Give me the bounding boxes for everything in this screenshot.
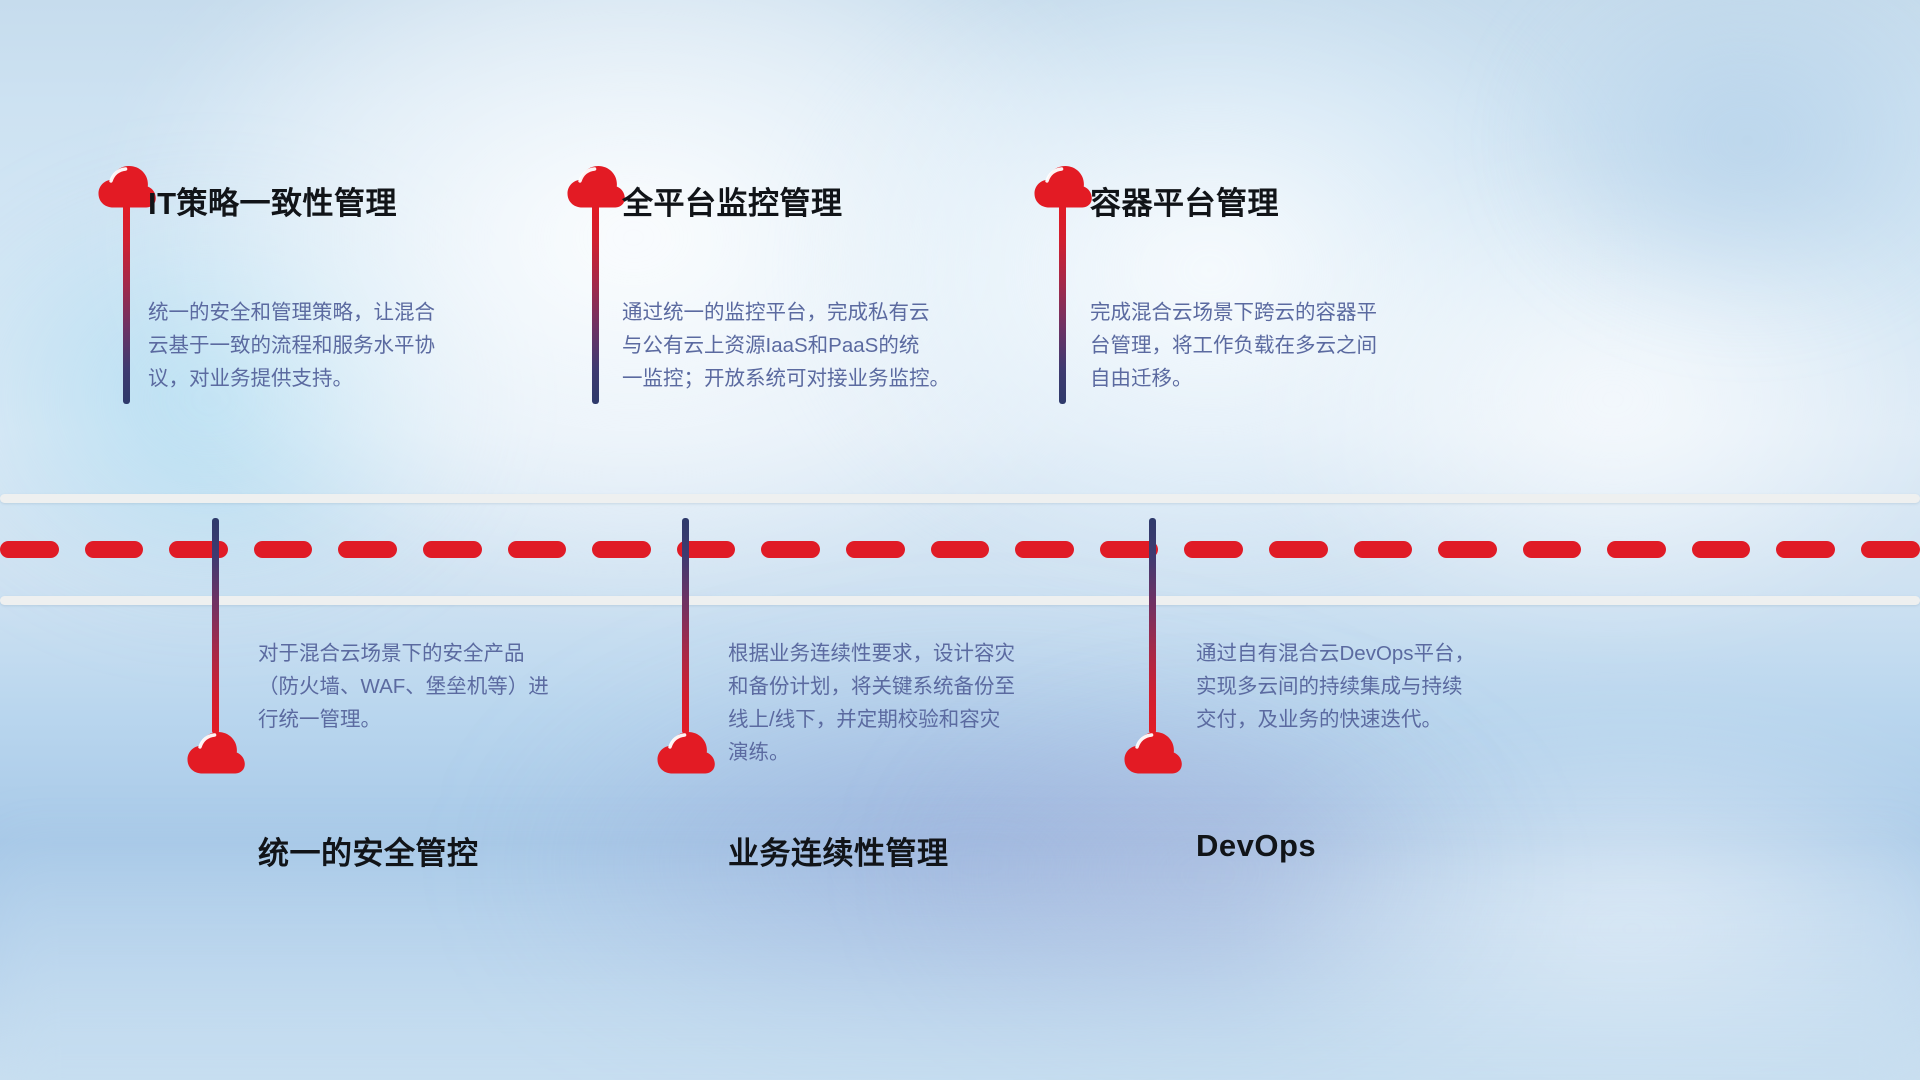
- road-dash-segment: [338, 541, 397, 558]
- card-description: 完成混合云场景下跨云的容器平 台管理，将工作负载在多云之间 自由迁移。: [1090, 296, 1460, 395]
- road-dash-segment: [931, 541, 990, 558]
- road-dash-segment: [1269, 541, 1328, 558]
- road-dash-segment: [1015, 541, 1074, 558]
- road-dash-segment: [1438, 541, 1497, 558]
- cloud-icon: [185, 730, 247, 776]
- card-title: DevOps: [1196, 828, 1316, 864]
- card-title: 容器平台管理: [1090, 178, 1279, 223]
- cloud-icon: [655, 730, 717, 776]
- cloud-icon: [1122, 730, 1184, 776]
- pin-stem: [682, 518, 689, 734]
- pin-stem: [1059, 204, 1066, 404]
- road-dash-segment: [1692, 541, 1751, 558]
- road-dash-segment: [0, 541, 59, 558]
- card-description: 通过统一的监控平台，完成私有云 与公有云上资源IaaS和PaaS的统 一监控；开…: [622, 296, 1017, 395]
- road-line-bottom: [0, 596, 1920, 605]
- card-description: 对于混合云场景下的安全产品 （防火墙、WAF、堡垒机等）进 行统一管理。: [258, 637, 638, 736]
- infographic-canvas: IT策略一致性管理 统一的安全和管理策略，让混合 云基于一致的流程和服务水平协 …: [0, 0, 1920, 1080]
- road-dash-segment: [1184, 541, 1243, 558]
- card-description: 通过自有混合云DevOps平台， 实现多云间的持续集成与持续 交付，及业务的快速…: [1196, 637, 1576, 736]
- road-line-top: [0, 494, 1920, 503]
- road-dash-segment: [423, 541, 482, 558]
- road-dash-segment: [1523, 541, 1582, 558]
- card-title: 统一的安全管控: [258, 828, 479, 873]
- road-dash-segment: [1861, 541, 1920, 558]
- road-dash-segment: [508, 541, 567, 558]
- road-dash-segment: [592, 541, 651, 558]
- pin-stem: [1149, 518, 1156, 734]
- pin-stem: [212, 518, 219, 734]
- pin-stem: [123, 204, 130, 404]
- road-dash-segment: [254, 541, 313, 558]
- road-dashed-centerline: [0, 541, 1920, 558]
- road-dash-segment: [1776, 541, 1835, 558]
- pin-stem: [592, 204, 599, 404]
- card-description: 统一的安全和管理策略，让混合 云基于一致的流程和服务水平协 议，对业务提供支持。: [148, 296, 508, 395]
- road-dash-segment: [1607, 541, 1666, 558]
- road-dash-segment: [85, 541, 144, 558]
- road-dash-segment: [1354, 541, 1413, 558]
- card-title: 全平台监控管理: [622, 178, 843, 223]
- card-title: IT策略一致性管理: [148, 178, 397, 223]
- card-description: 根据业务连续性要求，设计容灾 和备份计划，将关键系统备份至 线上/线下，并定期校…: [728, 637, 1108, 769]
- background-top-right-tint: [1421, 0, 1920, 389]
- road-dash-segment: [846, 541, 905, 558]
- road-dash-segment: [761, 541, 820, 558]
- card-title: 业务连续性管理: [728, 828, 949, 873]
